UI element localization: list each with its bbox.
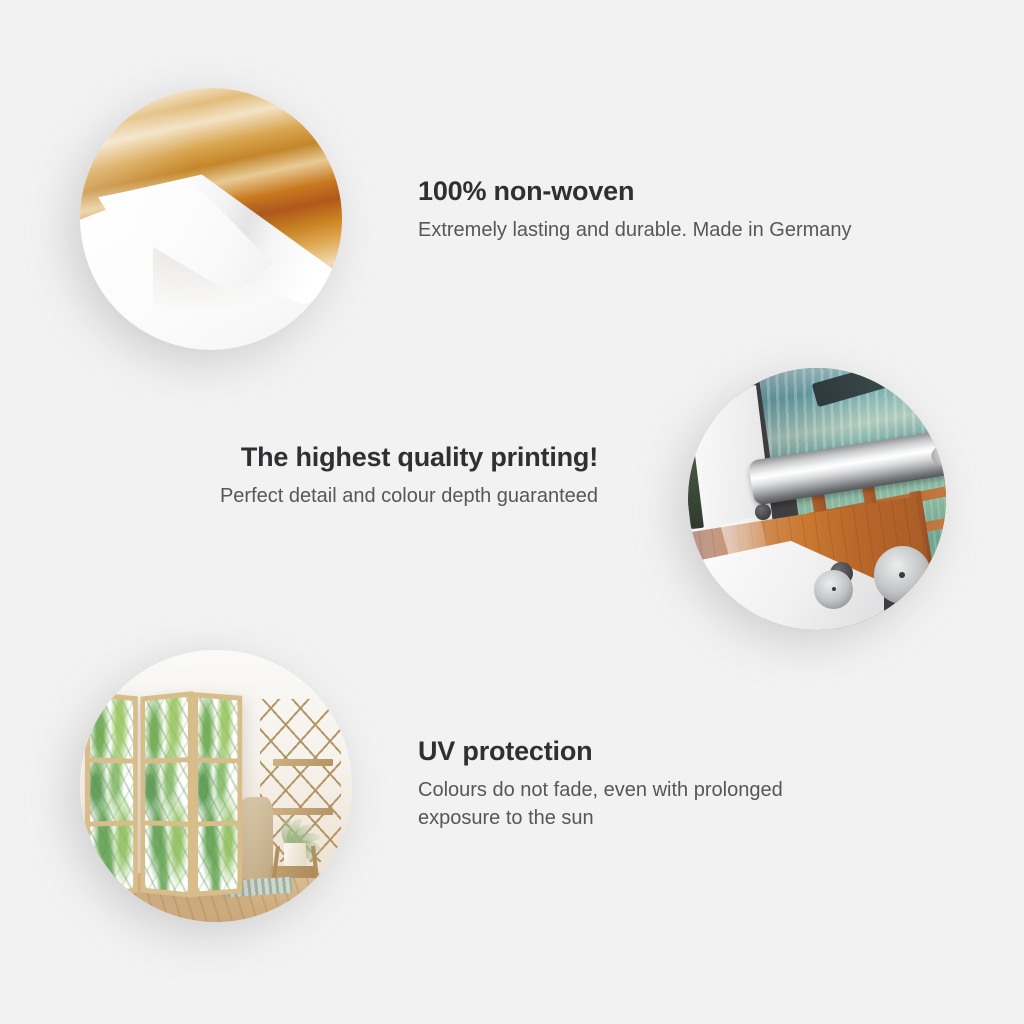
divider-panel — [193, 692, 243, 897]
potted-palm-plant — [260, 789, 331, 849]
divider-panel — [85, 691, 137, 897]
infographic-canvas: 100% non-woven Extremely lasting and dur… — [0, 0, 1024, 1024]
feature-description: Colours do not fade, even with prolonged… — [418, 776, 838, 833]
feature-description: Extremely lasting and durable. Made in G… — [418, 216, 888, 244]
circular-image-mask — [80, 88, 342, 350]
room-divider-photo — [80, 650, 352, 922]
divider-panel — [141, 691, 193, 898]
feature-title: UV protection — [418, 736, 838, 767]
press-wheel — [874, 546, 931, 604]
plant-pot — [284, 843, 306, 867]
press-wheel-small — [814, 570, 853, 609]
feature-title: The highest quality printing! — [180, 442, 598, 473]
feature-text-uv-protection: UV protection Colours do not fade, even … — [418, 736, 838, 833]
feature-description: Perfect detail and colour depth guarante… — [180, 482, 598, 510]
shelf-board — [273, 759, 333, 766]
feature-text-printing-quality: The highest quality printing! Perfect de… — [180, 442, 598, 510]
feature-text-non-woven: 100% non-woven Extremely lasting and dur… — [418, 176, 888, 244]
circular-image-mask — [80, 650, 352, 922]
press-knob — [755, 504, 770, 520]
circular-image-mask — [688, 368, 946, 630]
roller-end-cap — [929, 437, 946, 468]
folding-room-divider — [85, 694, 243, 895]
feature-title: 100% non-woven — [418, 176, 888, 207]
printing-press-photo — [688, 368, 946, 630]
wallpaper-peel-photo — [80, 88, 342, 350]
